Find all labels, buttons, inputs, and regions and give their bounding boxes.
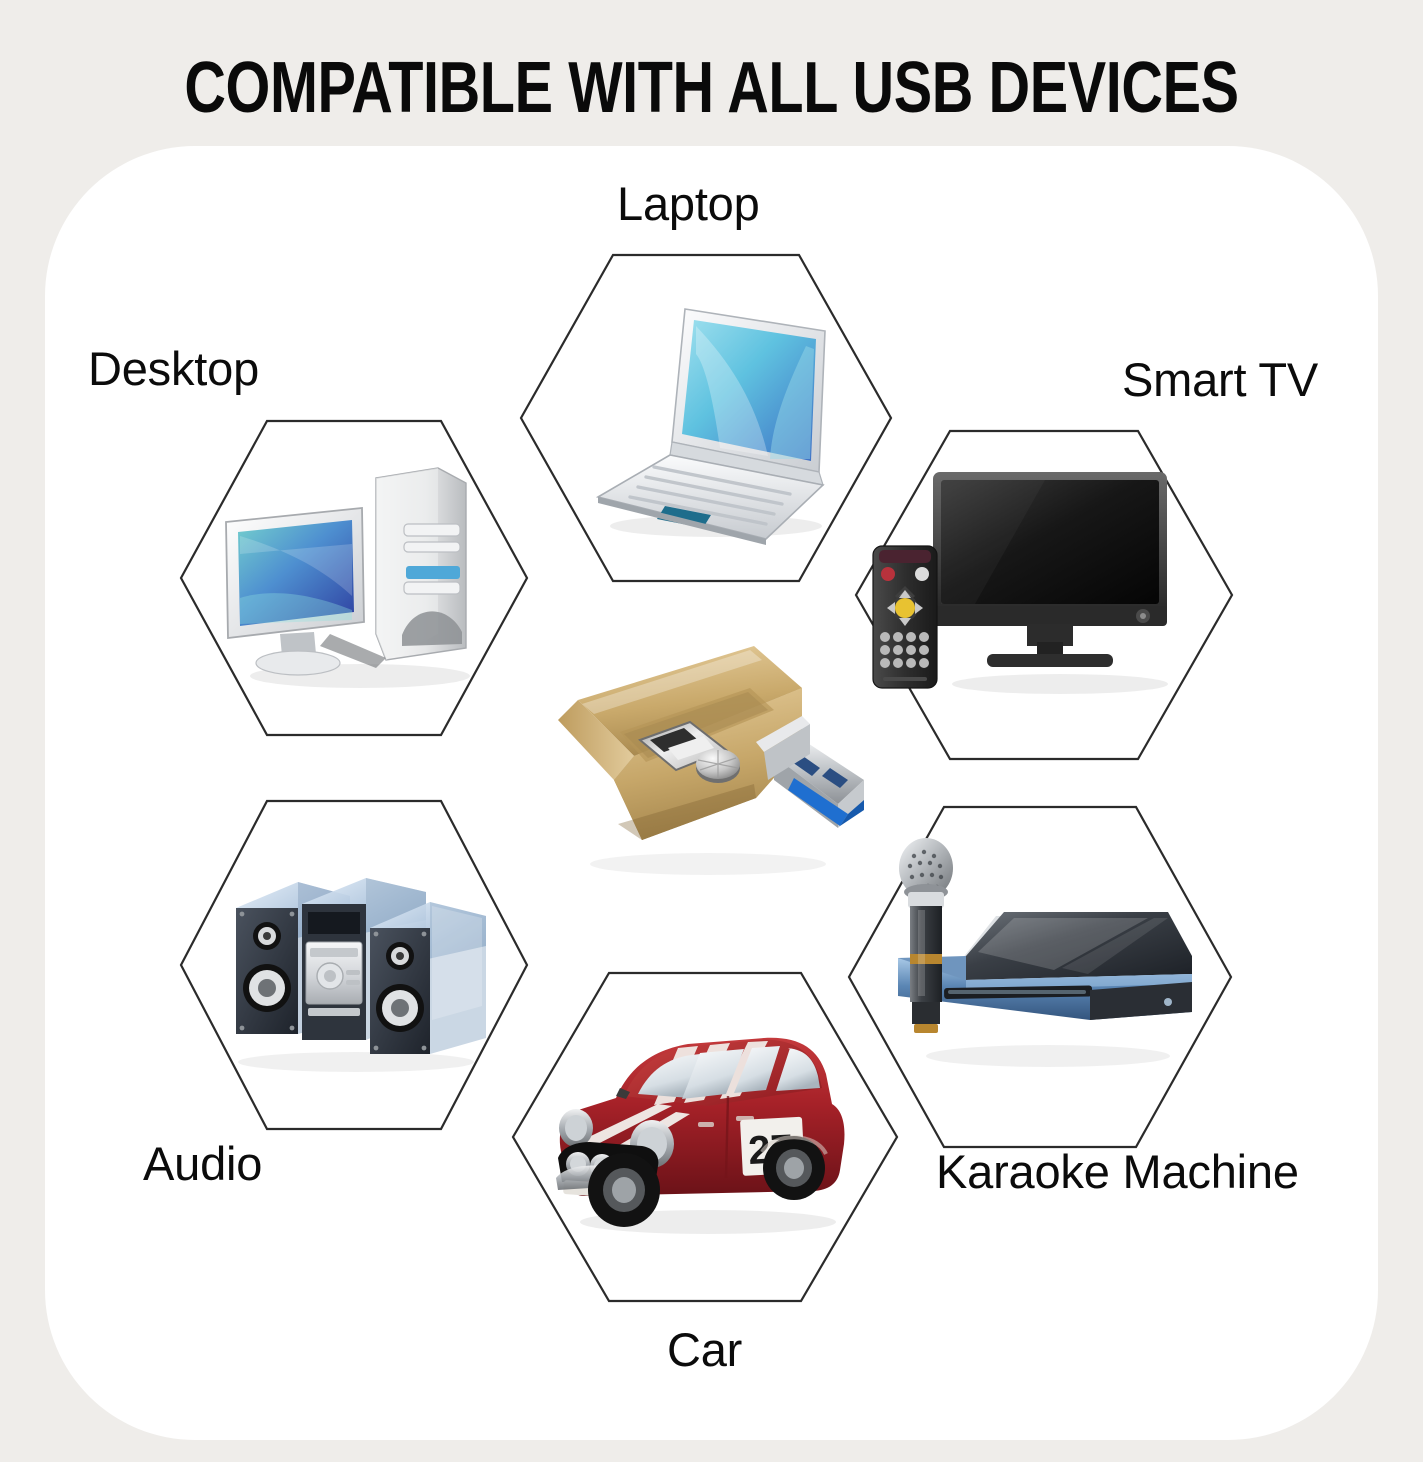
device-label-audio: Audio [143, 1140, 262, 1187]
car-icon: 27 [512, 972, 898, 1302]
device-cell-desktop[interactable] [180, 420, 528, 736]
device-cell-car[interactable]: 27 [512, 972, 898, 1302]
smart-tv-icon [855, 430, 1233, 760]
audio-stereo-system-icon [180, 800, 528, 1130]
device-label-desktop: Desktop [88, 345, 259, 392]
device-cell-karaoke[interactable] [848, 806, 1232, 1148]
device-cell-smarttv[interactable] [855, 430, 1233, 760]
laptop-icon [520, 254, 892, 582]
device-label-laptop: Laptop [617, 180, 760, 227]
infographic-canvas: COMPATIBLE WITH ALL USB DEVICES [0, 0, 1423, 1462]
device-cell-laptop[interactable] [520, 254, 892, 582]
desktop-computer-icon [180, 420, 528, 736]
device-label-karaoke: Karaoke Machine [936, 1148, 1299, 1195]
usb-flash-drive-icon [548, 628, 884, 888]
device-label-car: Car [667, 1326, 742, 1373]
karaoke-machine-icon [848, 806, 1232, 1148]
page-title: COMPATIBLE WITH ALL USB DEVICES [142, 52, 1280, 124]
device-cell-audio[interactable] [180, 800, 528, 1130]
device-label-smarttv: Smart TV [1122, 356, 1318, 403]
